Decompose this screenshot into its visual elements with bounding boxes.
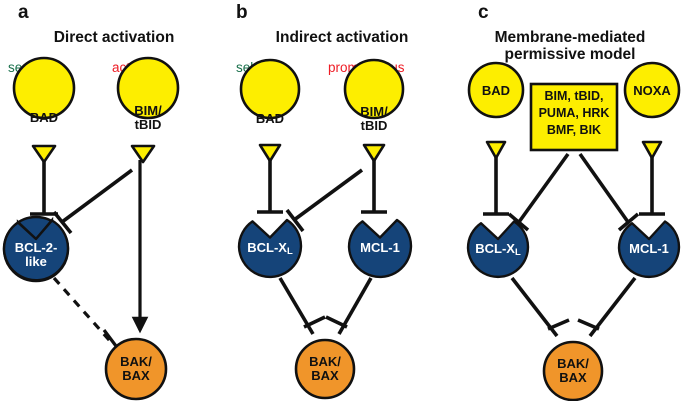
edge-bad-inhibits-bcl2like xyxy=(30,160,58,214)
panel-a-graphics xyxy=(0,0,228,401)
node-bcl-xl[interactable] xyxy=(239,220,301,277)
node-bh3-group-box[interactable] xyxy=(531,84,617,150)
edge-bclxl-inhibits-bakbax xyxy=(280,278,325,334)
edge-mcl1-inhibits-bakbax xyxy=(578,278,635,336)
node-bad[interactable] xyxy=(241,60,299,161)
node-bak-bax[interactable] xyxy=(544,342,602,400)
node-mcl-1[interactable] xyxy=(349,220,411,277)
edge-bh3group-inhibits-bclxl xyxy=(509,154,568,230)
panel-a: a Direct activation sensitizer activator xyxy=(0,0,228,401)
node-bcl-xl[interactable] xyxy=(468,222,528,277)
node-mcl-1[interactable] xyxy=(619,222,679,277)
edge-bimtbid-inhibits-mcl1 xyxy=(361,159,387,212)
node-bcl2-like[interactable] xyxy=(4,217,68,281)
node-bad[interactable] xyxy=(469,63,523,158)
panel-b: b Indirect activation selective promiscu… xyxy=(228,0,456,401)
edge-mcl1-inhibits-bakbax xyxy=(326,278,371,334)
node-noxa[interactable] xyxy=(625,63,679,158)
panel-c-graphics xyxy=(456,0,685,401)
edge-bcl2like-inhibits-bakbax xyxy=(54,278,119,350)
edge-bclxl-inhibits-bakbax xyxy=(512,278,569,336)
node-bak-bax[interactable] xyxy=(106,339,166,399)
node-bim-tbid[interactable] xyxy=(118,58,178,162)
edge-bad-inhibits-bclxl xyxy=(257,159,283,212)
panel-c: c Membrane-mediated permissive model xyxy=(456,0,684,401)
panel-b-graphics xyxy=(228,0,456,401)
edge-noxa-inhibits-mcl1 xyxy=(639,156,665,214)
edge-bh3group-inhibits-mcl1 xyxy=(580,154,638,230)
node-bad[interactable] xyxy=(14,58,74,162)
node-bim-tbid[interactable] xyxy=(345,60,403,161)
edge-bimtbid-inhibits-bcl2like xyxy=(54,170,132,233)
bcl2-apoptosis-model-figure: a Direct activation sensitizer activator xyxy=(0,0,685,401)
node-bak-bax[interactable] xyxy=(296,340,354,398)
edge-bad-inhibits-bclxl xyxy=(483,156,509,214)
edge-bimtbid-inhibits-bclxl xyxy=(287,170,362,231)
